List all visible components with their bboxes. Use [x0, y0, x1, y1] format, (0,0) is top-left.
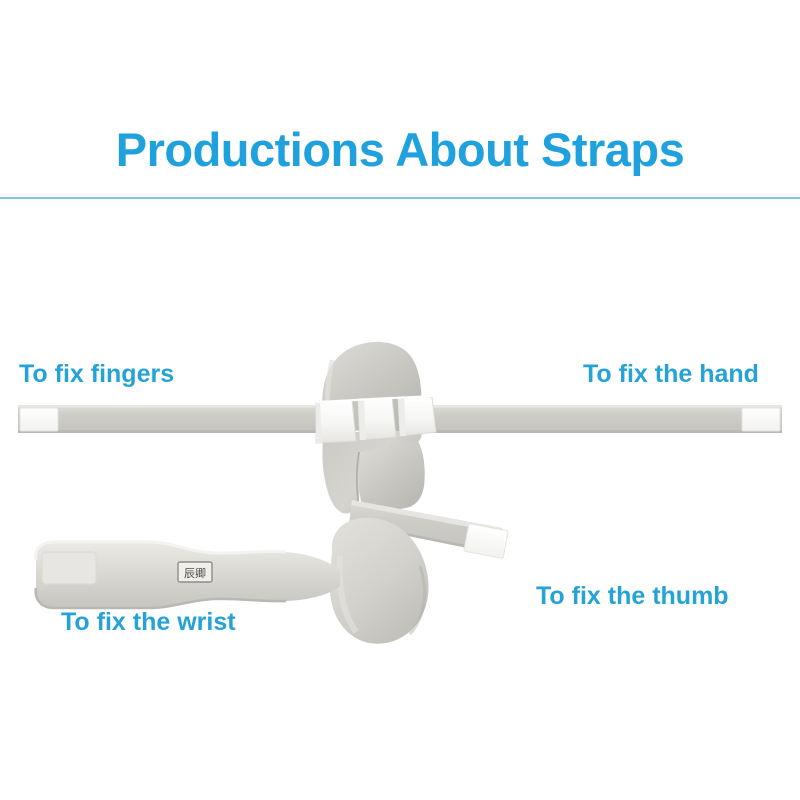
wrist-strap: 辰卿: [36, 542, 340, 608]
brand-tag: 辰卿: [178, 562, 212, 582]
callout-label-thumb: To fix the thumb: [536, 582, 729, 611]
product-illustration: 辰卿: [0, 0, 800, 800]
finger-strap-left: [18, 405, 348, 433]
callout-label-hand: To fix the hand: [583, 360, 759, 389]
product-infographic: Productions About Straps: [0, 0, 800, 800]
callout-label-fingers: To fix fingers: [19, 360, 174, 389]
callout-label-wrist: To fix the wrist: [61, 608, 236, 637]
brand-tag-text: 辰卿: [184, 567, 206, 580]
hand-strap-right: [400, 405, 782, 433]
